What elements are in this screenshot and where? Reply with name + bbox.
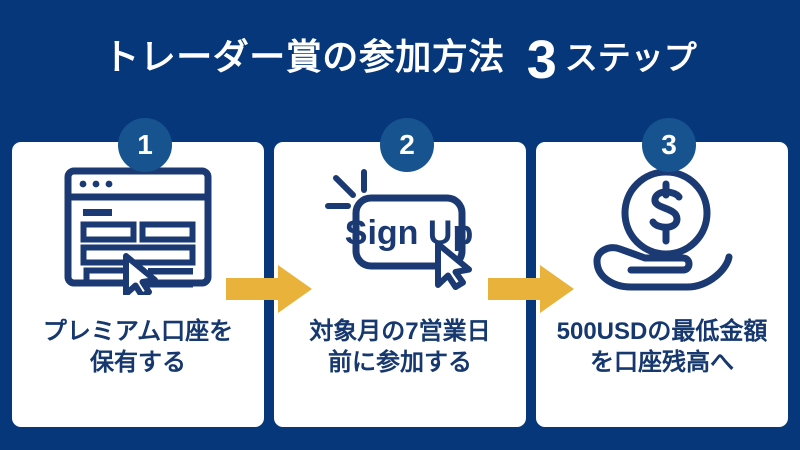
step-badge-2: 2 [380, 118, 434, 172]
step-card-2-label-line1: 対象月の7営業日 [309, 317, 490, 348]
step-card-1-label: プレミアム口座を 保有する [37, 317, 239, 378]
sign-up-icon-text: Sign Up [345, 214, 473, 252]
title-step-suffix: ステップ [565, 41, 697, 74]
steps-container: プレミアム口座を 保有する Sign Up [12, 142, 788, 427]
step-card-1-label-line1: プレミアム口座を [43, 317, 233, 348]
title-main-text: トレーダー賞の参加方法 [103, 39, 505, 75]
step-card-2-label-line2: 前に参加する [309, 348, 490, 379]
step-card-3-label: 500USDの最低金額 を口座残高へ [551, 317, 774, 378]
arrow-step2-to-step3 [488, 264, 574, 314]
title-step-count: 3 [527, 33, 557, 87]
step-card-1-label-line2: 保有する [43, 348, 233, 379]
page-title: トレーダー賞の参加方法 3 ステップ [0, 18, 800, 96]
step-card-3-label-line2: を口座残高へ [557, 348, 768, 379]
step-card-3-label-line1: 500USDの最低金額 [557, 317, 768, 348]
step-badge-1: 1 [118, 118, 172, 172]
step-card-2-label: 対象月の7営業日 前に参加する [303, 317, 496, 378]
step-badge-3: 3 [642, 118, 696, 172]
arrow-step1-to-step2 [226, 264, 312, 314]
infographic-root: トレーダー賞の参加方法 3 ステップ [0, 0, 800, 450]
